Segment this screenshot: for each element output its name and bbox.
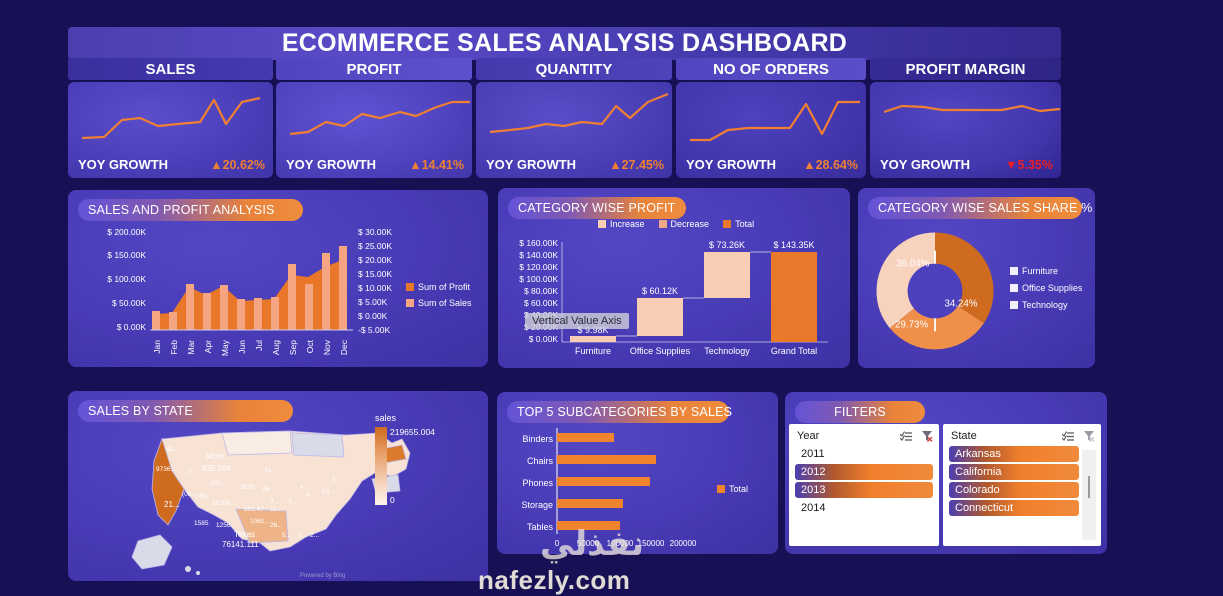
svg-text:$ 0.00K: $ 0.00K bbox=[358, 311, 388, 321]
svg-text:3...: 3... bbox=[288, 498, 297, 505]
svg-text:$ 20.00K: $ 20.00K bbox=[358, 255, 392, 265]
panel-sales-by-state: SALES BY STATE 43. 9736... 2... Mont. bbox=[68, 391, 488, 581]
multi-select-icon[interactable] bbox=[900, 431, 913, 442]
panel-title-sales-profit: SALES AND PROFIT ANALYSIS bbox=[78, 199, 303, 221]
sparkline-profit-margin bbox=[876, 88, 1076, 150]
svg-text:861.47: 861.47 bbox=[244, 506, 264, 513]
legend-swatch bbox=[1010, 284, 1018, 292]
svg-text:$ 0.00K: $ 0.00K bbox=[529, 334, 559, 344]
svg-text:3...: 3... bbox=[270, 498, 279, 505]
svg-text:43.: 43. bbox=[166, 446, 175, 453]
kpi-growth-value: ▼5.35% bbox=[1005, 158, 1053, 172]
svg-text:$ 30.00K: $ 30.00K bbox=[358, 227, 392, 237]
multi-select-icon[interactable] bbox=[1062, 431, 1075, 442]
svg-text:Mar: Mar bbox=[186, 340, 196, 355]
kpi-growth-label: YOY GROWTH bbox=[286, 157, 376, 172]
svg-text:$ 5.00K: $ 5.00K bbox=[358, 297, 388, 307]
svg-text:29.73%: 29.73% bbox=[895, 319, 928, 330]
svg-text:Phones: Phones bbox=[522, 478, 553, 488]
svg-text:$ 80.00K: $ 80.00K bbox=[524, 286, 558, 296]
kpi-growth-value: ▲27.45% bbox=[609, 158, 664, 172]
legend-swatch bbox=[723, 220, 731, 228]
watermark-arabic: نفذلي bbox=[540, 524, 644, 564]
kpi-growth-label: YOY GROWTH bbox=[78, 157, 168, 172]
svg-text:Oct: Oct bbox=[305, 339, 315, 353]
svg-text:Dec: Dec bbox=[339, 339, 349, 355]
svg-text:160...: 160... bbox=[210, 480, 226, 487]
kpi-growth-value: ▲28.64% bbox=[803, 158, 858, 172]
kpi-header-quantity: QUANTITY bbox=[476, 58, 672, 80]
dashboard-title-bar: ECOMMERCE SALES ANALYSIS DASHBOARD bbox=[68, 27, 1061, 60]
legend-item-decrease: Decrease bbox=[659, 219, 710, 229]
svg-text:May: May bbox=[220, 339, 230, 356]
watermark-site: nafezly.com bbox=[478, 565, 630, 596]
slicer-option-arkansas[interactable]: Arkansas bbox=[949, 446, 1079, 462]
svg-text:Binders: Binders bbox=[522, 434, 553, 444]
kpi-card-quantity[interactable]: YOY GROWTH ▲27.45% bbox=[476, 82, 672, 178]
svg-text:26.: 26. bbox=[262, 486, 271, 493]
clear-filter-icon[interactable] bbox=[921, 430, 933, 442]
legend-swatch bbox=[406, 299, 414, 307]
svg-text:Chairs: Chairs bbox=[527, 456, 554, 466]
legend-item-technology: Technology bbox=[1010, 300, 1082, 310]
legend-swatch bbox=[406, 283, 414, 291]
svg-text:Furniture: Furniture bbox=[575, 346, 611, 356]
legend-item-sum-of-sales: Sum of Sales bbox=[406, 298, 472, 308]
slicer-option-2011[interactable]: 2011 bbox=[795, 446, 933, 462]
slicer-option-2012[interactable]: 2012 bbox=[795, 464, 933, 480]
svg-text:$ 10.00K: $ 10.00K bbox=[358, 283, 392, 293]
legend-item-sum-of-profit: Sum of Profit bbox=[406, 282, 472, 292]
svg-text:34.24%: 34.24% bbox=[944, 299, 977, 310]
svg-text:74...: 74... bbox=[264, 468, 277, 475]
panel-title-sales-share: CATEGORY WISE SALES SHARE % bbox=[868, 197, 1082, 219]
svg-text:4...: 4... bbox=[306, 492, 315, 499]
kpi-header-profit-margin: PROFIT MARGIN bbox=[870, 58, 1061, 80]
sparkline-quantity bbox=[482, 88, 682, 150]
slicer-option-california[interactable]: California bbox=[949, 464, 1079, 480]
legend-swatch bbox=[1010, 267, 1018, 275]
slicer-option-2014[interactable]: 2014 bbox=[795, 500, 933, 516]
legend-item-increase: Increase bbox=[598, 219, 645, 229]
slicer-title-state: State bbox=[951, 430, 977, 442]
slicer-scrollbar[interactable] bbox=[1082, 450, 1096, 540]
kpi-label: PROFIT bbox=[347, 61, 402, 78]
kpi-card-profit-margin[interactable]: YOY GROWTH ▼5.35% bbox=[870, 82, 1061, 178]
legend-category-profit: Increase Decrease Total bbox=[598, 219, 754, 229]
map-legend: sales 219655.004 0 bbox=[375, 413, 435, 505]
legend-swatch bbox=[598, 220, 606, 228]
svg-text:26...: 26... bbox=[270, 522, 283, 529]
chart-category-wise-sales-share: 36.04% 34.24% 29.73% bbox=[870, 226, 1000, 356]
svg-text:$ 60.12K: $ 60.12K bbox=[642, 286, 678, 296]
svg-text:76141.111: 76141.111 bbox=[222, 540, 259, 549]
svg-text:2...: 2... bbox=[310, 532, 319, 539]
map-legend-min: 0 bbox=[390, 495, 435, 505]
legend-sales-profit: Sum of Profit Sum of Sales bbox=[406, 282, 472, 308]
svg-text:(08...: (08... bbox=[182, 491, 197, 498]
legend-sales-share: Furniture Office Supplies Technology bbox=[1010, 266, 1082, 310]
panel-title-filters: FILTERS bbox=[795, 401, 925, 423]
svg-text:1...: 1... bbox=[298, 532, 307, 539]
slicer-option-connecticut[interactable]: Connecticut bbox=[949, 500, 1079, 516]
kpi-header-profit: PROFIT bbox=[276, 58, 472, 80]
svg-text:$ 120.00K: $ 120.00K bbox=[519, 262, 558, 272]
svg-text:Mont...: Mont... bbox=[206, 452, 230, 461]
slicer-state[interactable]: State Arkansas California Colorado Conne… bbox=[943, 424, 1101, 546]
svg-text:$ 143.35K: $ 143.35K bbox=[773, 240, 814, 250]
svg-text:Jun: Jun bbox=[237, 340, 247, 354]
panel-title-category-profit: CATEGORY WISE PROFIT bbox=[508, 197, 686, 219]
svg-text:935.584: 935.584 bbox=[202, 464, 231, 473]
panel-filters: FILTERS Year 2011 2012 bbox=[785, 392, 1107, 554]
page-title: ECOMMERCE SALES ANALYSIS DASHBOARD bbox=[282, 29, 847, 58]
clear-filter-icon[interactable] bbox=[1083, 430, 1095, 442]
sparkline-no-of-orders bbox=[682, 88, 882, 150]
vertical-value-axis-tooltip: Vertical Value Axis bbox=[525, 313, 629, 329]
map-legend-gradient bbox=[375, 427, 387, 505]
panel-title-top5: TOP 5 SUBCATEGORIES BY SALES bbox=[507, 401, 729, 423]
svg-text:Grand Total: Grand Total bbox=[771, 346, 817, 356]
kpi-card-no-of-orders[interactable]: YOY GROWTH ▲28.64% bbox=[676, 82, 866, 178]
kpi-card-sales[interactable]: YOY GROWTH ▲20.62% bbox=[68, 82, 273, 178]
svg-text:9736...: 9736... bbox=[156, 466, 176, 473]
kpi-growth-value: ▲14.41% bbox=[409, 158, 464, 172]
kpi-header-no-of-orders: NO OF ORDERS bbox=[676, 58, 866, 80]
svg-text:15306...: 15306... bbox=[212, 500, 236, 507]
svg-text:$ 100.00K: $ 100.00K bbox=[107, 274, 146, 284]
svg-text:$ 160.00K: $ 160.00K bbox=[519, 238, 558, 248]
svg-text:1061...: 1061... bbox=[250, 518, 270, 525]
svg-text:5...: 5... bbox=[282, 532, 291, 539]
svg-text:Office Supplies: Office Supplies bbox=[630, 346, 691, 356]
svg-text:1256...: 1256... bbox=[216, 522, 236, 529]
panel-category-wise-profit: CATEGORY WISE PROFIT Increase Decrease T… bbox=[498, 188, 850, 368]
kpi-card-profit[interactable]: YOY GROWTH ▲14.41% bbox=[276, 82, 472, 178]
svg-text:200000: 200000 bbox=[670, 539, 697, 548]
svg-text:Aug: Aug bbox=[271, 340, 281, 355]
map-credit: Powered by Bing bbox=[300, 573, 345, 579]
kpi-growth-label: YOY GROWTH bbox=[486, 157, 576, 172]
svg-text:1585: 1585 bbox=[194, 520, 209, 527]
svg-text:Sep: Sep bbox=[288, 340, 298, 355]
svg-text:$ 15.00K: $ 15.00K bbox=[358, 269, 392, 279]
map-legend-title: sales bbox=[375, 413, 435, 423]
legend-swatch bbox=[1010, 301, 1018, 309]
legend-item-office-supplies: Office Supplies bbox=[1010, 283, 1082, 293]
legend-swatch bbox=[717, 485, 725, 493]
kpi-label: QUANTITY bbox=[536, 61, 613, 78]
slicer-scrollbar-thumb[interactable] bbox=[1088, 476, 1090, 498]
kpi-growth-value: ▲20.62% bbox=[210, 158, 265, 172]
svg-text:Texas: Texas bbox=[234, 530, 255, 539]
slicer-title-year: Year bbox=[797, 430, 819, 442]
svg-text:21...: 21... bbox=[164, 500, 180, 509]
svg-text:4...: 4... bbox=[300, 484, 309, 491]
svg-text:11...: 11... bbox=[270, 506, 282, 513]
svg-text:$ 100.00K: $ 100.00K bbox=[519, 274, 558, 284]
svg-text:Jul: Jul bbox=[254, 340, 264, 351]
sparkline-sales bbox=[74, 88, 274, 150]
svg-text:36.04%: 36.04% bbox=[896, 258, 929, 269]
kpi-label: PROFIT MARGIN bbox=[906, 61, 1026, 78]
svg-text:$ 150.00K: $ 150.00K bbox=[107, 250, 146, 260]
panel-category-wise-sales-share: CATEGORY WISE SALES SHARE % 36.04% 34.24… bbox=[858, 188, 1095, 368]
kpi-growth-label: YOY GROWTH bbox=[686, 157, 776, 172]
svg-text:Storage: Storage bbox=[521, 500, 553, 510]
sparkline-profit bbox=[282, 88, 482, 150]
panel-sales-and-profit-analysis: SALES AND PROFIT ANALYSIS $ 200.00K $ 15… bbox=[68, 190, 488, 367]
svg-text:3675.: 3675. bbox=[240, 484, 256, 491]
slicer-option-2013[interactable]: 2013 bbox=[795, 482, 933, 498]
slicer-year[interactable]: Year 2011 2012 2013 2014 bbox=[789, 424, 939, 546]
legend-item-furniture: Furniture bbox=[1010, 266, 1082, 276]
kpi-growth-label: YOY GROWTH bbox=[880, 157, 970, 172]
legend-item-total: Total bbox=[723, 219, 754, 229]
map-legend-max: 219655.004 bbox=[390, 427, 435, 437]
svg-text:1...: 1... bbox=[332, 476, 341, 483]
svg-text:$ 60.00K: $ 60.00K bbox=[524, 298, 558, 308]
svg-text:581.: 581. bbox=[196, 493, 209, 500]
svg-text:$ 0.00K: $ 0.00K bbox=[117, 322, 147, 332]
kpi-label: SALES bbox=[145, 61, 195, 78]
svg-text:Jan: Jan bbox=[152, 340, 162, 354]
svg-text:Feb: Feb bbox=[169, 340, 179, 355]
svg-text:$ 200.00K: $ 200.00K bbox=[107, 227, 146, 237]
legend-swatch bbox=[659, 220, 667, 228]
dashboard-canvas: ECOMMERCE SALES ANALYSIS DASHBOARD SALES… bbox=[0, 0, 1223, 594]
svg-text:Technology: Technology bbox=[704, 346, 750, 356]
svg-text:2...: 2... bbox=[188, 468, 197, 475]
svg-text:$ 25.00K: $ 25.00K bbox=[358, 241, 392, 251]
kpi-label: NO OF ORDERS bbox=[713, 61, 829, 78]
svg-text:$ 140.00K: $ 140.00K bbox=[519, 250, 558, 260]
svg-text:Nov: Nov bbox=[322, 339, 332, 355]
chart-category-wise-profit: $ 160.00K $ 140.00K $ 120.00K $ 100.00K … bbox=[498, 236, 850, 366]
svg-text:Apr: Apr bbox=[203, 340, 213, 353]
svg-text:$ 73.26K: $ 73.26K bbox=[709, 240, 745, 250]
kpi-header-sales: SALES bbox=[68, 58, 273, 80]
legend-item-total: Total bbox=[717, 484, 748, 494]
svg-text:$ 50.00K: $ 50.00K bbox=[112, 298, 146, 308]
svg-text:53...: 53... bbox=[322, 488, 335, 495]
slicer-option-colorado[interactable]: Colorado bbox=[949, 482, 1079, 498]
svg-text:-$ 5.00K: -$ 5.00K bbox=[358, 325, 390, 335]
